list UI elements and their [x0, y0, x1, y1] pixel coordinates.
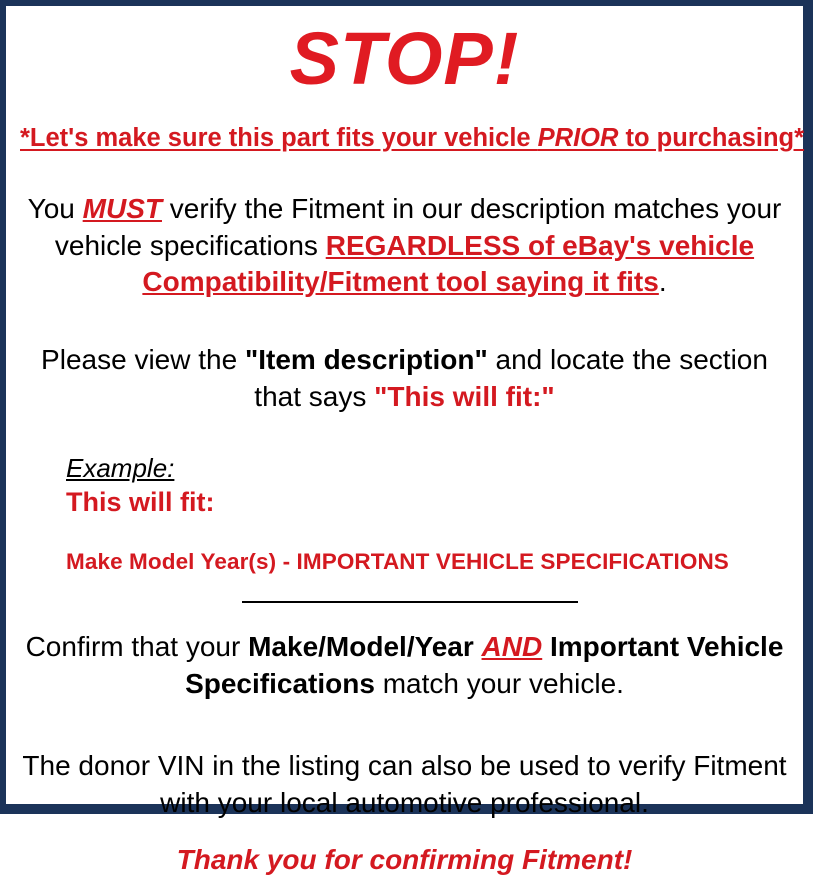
make-model-year-emphasis: Make/Model/Year	[248, 631, 474, 662]
section-divider-wrapper	[20, 601, 789, 603]
stop-title: STOP!	[20, 22, 789, 96]
example-fit-header: This will fit:	[66, 486, 789, 518]
lead-text-after: to purchasing*	[618, 124, 804, 152]
example-label: Example:	[66, 453, 174, 484]
must-verify-paragraph: You MUST verify the Fitment in our descr…	[20, 191, 789, 300]
view-part-1: Please view the	[41, 344, 245, 375]
and-emphasis: AND	[482, 631, 543, 662]
this-will-fit-emphasis: "This will fit:"	[374, 381, 555, 412]
section-divider	[242, 601, 578, 603]
example-block: Example: This will fit: Make Model Year(…	[20, 453, 789, 575]
must-part-3: .	[659, 266, 667, 297]
example-spec-line: Make Model Year(s) - IMPORTANT VEHICLE S…	[66, 548, 789, 575]
thank-you-line: Thank you for confirming Fitment!	[20, 843, 789, 876]
item-description-paragraph: Please view the "Item description" and l…	[20, 342, 789, 415]
confirm-part-1: Confirm that your	[26, 631, 249, 662]
lead-warning-line: *Let's make sure this part fits your veh…	[20, 124, 789, 153]
item-description-emphasis: "Item description"	[245, 344, 488, 375]
fitment-notice-card: STOP! *Let's make sure this part fits yo…	[0, 0, 813, 814]
confirm-part-2: match your vehicle.	[375, 668, 624, 699]
must-emphasis: MUST	[83, 193, 162, 224]
confirm-paragraph: Confirm that your Make/Model/Year AND Im…	[20, 629, 789, 702]
donor-vin-paragraph: The donor VIN in the listing can also be…	[20, 748, 789, 821]
lead-text-prior-emphasis: PRIOR	[538, 124, 619, 152]
must-part-1: You	[28, 193, 83, 224]
lead-text-before: *Let's make sure this part fits your veh…	[20, 124, 538, 152]
